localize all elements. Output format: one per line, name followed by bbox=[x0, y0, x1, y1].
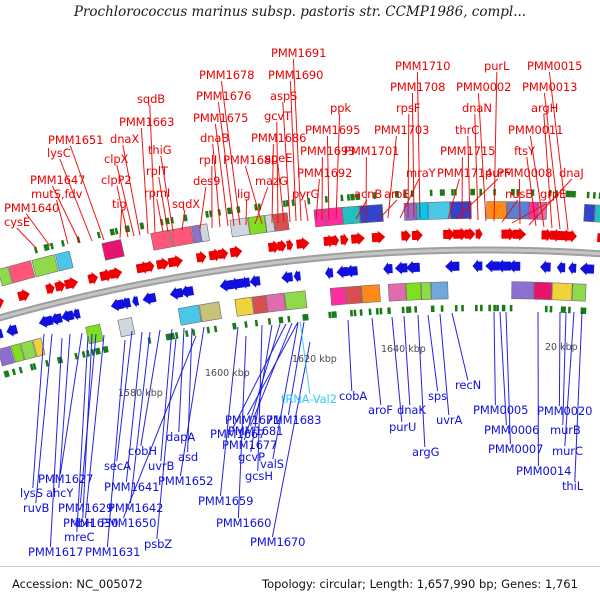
gene-label-tig[interactable]: tig bbox=[112, 199, 127, 211]
gene-label-asps[interactable]: aspS bbox=[270, 91, 297, 103]
gene-label-pmm1627[interactable]: PMM1627 bbox=[38, 474, 93, 486]
gene-label-mrec[interactable]: mreC bbox=[64, 532, 94, 544]
gene-label-aroe[interactable]: aroE bbox=[384, 189, 409, 201]
gene-label-pmm0013[interactable]: PMM0013 bbox=[522, 82, 577, 94]
gene-label-pmm0008[interactable]: PMM0008 bbox=[497, 168, 552, 180]
rna-label-trna-val2[interactable]: tRNA-Val2 bbox=[281, 394, 337, 406]
gene-label-nusb[interactable]: nusB bbox=[505, 189, 533, 201]
gene-label-dnan[interactable]: dnaN bbox=[462, 103, 492, 115]
gene-label-argh[interactable]: argH bbox=[531, 103, 558, 115]
gene-label-thig[interactable]: thiG bbox=[148, 145, 172, 157]
gene-label-rplt[interactable]: rplT bbox=[146, 166, 168, 178]
gene-label-pmm1671[interactable]: PMM1671 bbox=[225, 415, 280, 427]
gene-label-pmm1676[interactable]: PMM1676 bbox=[196, 91, 251, 103]
gene-label-pmm1651[interactable]: PMM1651 bbox=[48, 135, 103, 147]
gene-label-pmm1647[interactable]: PMM1647 bbox=[30, 175, 85, 187]
gene-label-pyrg[interactable]: pyrG bbox=[292, 189, 319, 201]
status-bar: Accession: NC_005072 Topology: circular;… bbox=[0, 566, 600, 601]
gene-label-pmm1690[interactable]: PMM1690 bbox=[268, 70, 323, 82]
gene-label-mray[interactable]: mraY bbox=[406, 168, 436, 180]
gene-label-dapa[interactable]: dapA bbox=[166, 432, 195, 444]
gene-label-coba[interactable]: cobA bbox=[339, 391, 367, 403]
gene-label-pmm0006[interactable]: PMM0006 bbox=[484, 425, 539, 437]
accession-text: Accession: NC_005072 bbox=[12, 577, 143, 591]
gene-label-lysc[interactable]: lysC bbox=[47, 148, 71, 160]
gene-label-purl[interactable]: purL bbox=[484, 61, 509, 73]
gene-label-sps[interactable]: sps bbox=[428, 391, 447, 403]
gene-label-pmm1670[interactable]: PMM1670 bbox=[250, 537, 305, 549]
gene-label-cyse[interactable]: cysE bbox=[4, 217, 30, 229]
gene-label-murc[interactable]: murC bbox=[552, 446, 583, 458]
gene-label-pmm1692[interactable]: PMM1692 bbox=[297, 168, 352, 180]
gene-label-rpsf[interactable]: rpsF bbox=[396, 103, 420, 115]
gene-label-psbz[interactable]: psbZ bbox=[144, 539, 172, 551]
gene-label-pmm1629[interactable]: PMM1629 bbox=[58, 503, 113, 515]
gene-label-des9[interactable]: des9 bbox=[193, 176, 220, 188]
gene-label-cobh[interactable]: cobH bbox=[128, 446, 157, 458]
gene-label-pmm1701[interactable]: PMM1701 bbox=[344, 146, 399, 158]
gene-label-arof[interactable]: aroF bbox=[368, 405, 393, 417]
gene-label-lyss[interactable]: lysS bbox=[20, 488, 43, 500]
gene-label-clpp2[interactable]: clpP2 bbox=[101, 175, 132, 187]
gene-label-pmm1681[interactable]: PMM1681 bbox=[228, 426, 283, 438]
gene-label-pmm1703[interactable]: PMM1703 bbox=[374, 125, 429, 137]
gene-label-pmm1659[interactable]: PMM1659 bbox=[198, 496, 253, 508]
gene-label-gcvt[interactable]: gcvT bbox=[264, 111, 291, 123]
gene-label-seca[interactable]: secA bbox=[104, 461, 131, 473]
gene-label-puru[interactable]: purU bbox=[389, 422, 416, 434]
gene-label-murb[interactable]: murB bbox=[550, 425, 581, 437]
gene-label-pmm1641[interactable]: PMM1641 bbox=[104, 482, 159, 494]
gene-label-pmm1675[interactable]: PMM1675 bbox=[193, 113, 248, 125]
gene-label-ruvb[interactable]: ruvB bbox=[23, 503, 49, 515]
gene-label-acnb[interactable]: acnB bbox=[354, 189, 382, 201]
gene-label-thil[interactable]: thiL bbox=[562, 481, 583, 493]
gene-label-dnab[interactable]: dnaB bbox=[200, 133, 229, 145]
gene-label-pmm1640[interactable]: PMM1640 bbox=[4, 203, 59, 215]
gene-label-asd[interactable]: asd bbox=[178, 452, 198, 464]
gene-label-uvra[interactable]: uvrA bbox=[436, 415, 462, 427]
gene-label-pmm0011[interactable]: PMM0011 bbox=[508, 125, 563, 137]
gene-label-pmm0014[interactable]: PMM0014 bbox=[516, 466, 571, 478]
gene-label-pmm1710[interactable]: PMM1710 bbox=[395, 61, 450, 73]
gene-label-pmm0020[interactable]: PMM0020 bbox=[537, 406, 592, 418]
gene-label-pmm1708[interactable]: PMM1708 bbox=[390, 82, 445, 94]
gene-label-pmm1695[interactable]: PMM1695 bbox=[305, 125, 360, 137]
gene-label-pmm1686[interactable]: PMM1686 bbox=[251, 133, 306, 145]
gene-label-pmm0002[interactable]: PMM0002 bbox=[456, 82, 511, 94]
gene-label-dnaj[interactable]: dnaJ bbox=[559, 168, 584, 180]
gene-label-pmm0007[interactable]: PMM0007 bbox=[488, 444, 543, 456]
gene-label-ftsy[interactable]: ftsY bbox=[514, 146, 535, 158]
gene-label-dnax[interactable]: dnaX bbox=[110, 134, 139, 146]
gene-label-mazg[interactable]: mazG bbox=[255, 176, 288, 188]
gene-label-rpmi[interactable]: rpmI bbox=[144, 188, 170, 200]
genome-info-text: Topology: circular; Length: 1,657,990 bp… bbox=[262, 577, 578, 591]
gene-label-muts-fdv[interactable]: mutS,fdv bbox=[31, 189, 82, 201]
gene-label-pmm1630[interactable]: PMM1630 bbox=[63, 518, 118, 530]
gene-label-pmm1617[interactable]: PMM1617 bbox=[28, 547, 83, 559]
ruler-tick-label: 1580 kbp bbox=[118, 388, 163, 399]
gene-label-recn[interactable]: recN bbox=[455, 380, 481, 392]
gene-label-sqdb[interactable]: sqdB bbox=[137, 94, 165, 106]
gene-label-pmm1642[interactable]: PMM1642 bbox=[108, 503, 163, 515]
gene-label-pmm1652[interactable]: PMM1652 bbox=[158, 476, 213, 488]
gene-label-pmm1631[interactable]: PMM1631 bbox=[85, 547, 140, 559]
gene-label-lig[interactable]: lig bbox=[237, 189, 250, 201]
gene-label-pmm1677[interactable]: PMM1677 bbox=[222, 440, 277, 452]
gene-label-grpe[interactable]: grpE bbox=[540, 189, 566, 201]
genome-map-viewer: Prochlorococcus marinus subsp. pastoris … bbox=[0, 0, 600, 600]
ruler-tick-label: 1600 kbp bbox=[205, 368, 250, 379]
gene-label-spee[interactable]: speE bbox=[265, 153, 292, 165]
genome-map-canvas[interactable]: cysEPMM1640mutS,fdvPMM1647lysCPMM1651tig… bbox=[0, 22, 600, 565]
gene-label-pmm1660[interactable]: PMM1660 bbox=[216, 518, 271, 530]
gene-label-pmm1663[interactable]: PMM1663 bbox=[119, 117, 174, 129]
gene-label-clpx[interactable]: clpX bbox=[104, 154, 128, 166]
gene-label-sqdx[interactable]: sqdX bbox=[172, 199, 200, 211]
gene-label-ppk[interactable]: ppk bbox=[330, 103, 351, 115]
gene-label-argg[interactable]: argG bbox=[412, 447, 439, 459]
gene-label-dnak[interactable]: dnaK bbox=[397, 405, 426, 417]
gene-label-rpli[interactable]: rplI bbox=[199, 155, 217, 167]
gene-label-pmm1691[interactable]: PMM1691 bbox=[271, 48, 326, 60]
gene-label-gcsh[interactable]: gcsH bbox=[245, 471, 273, 483]
gene-label-uvrb[interactable]: uvrB bbox=[148, 461, 174, 473]
page-title: Prochlorococcus marinus subsp. pastoris … bbox=[0, 4, 600, 20]
ruler-tick-label: 1640 kbp bbox=[381, 344, 426, 355]
gene-label-thrc[interactable]: thrC bbox=[455, 125, 479, 137]
gene-label-pmm0005[interactable]: PMM0005 bbox=[473, 405, 528, 417]
gene-label-pmm1715[interactable]: PMM1715 bbox=[440, 146, 495, 158]
gene-label-pmm1678[interactable]: PMM1678 bbox=[199, 70, 254, 82]
ruler-tick-label: 20 kbp bbox=[545, 342, 578, 353]
ruler-tick-label: 1620 kbp bbox=[292, 354, 337, 365]
gene-label-pmm0015[interactable]: PMM0015 bbox=[527, 61, 582, 73]
gene-label-vals[interactable]: valS bbox=[260, 459, 284, 471]
gene-label-ahcy[interactable]: ahcY bbox=[46, 488, 73, 500]
